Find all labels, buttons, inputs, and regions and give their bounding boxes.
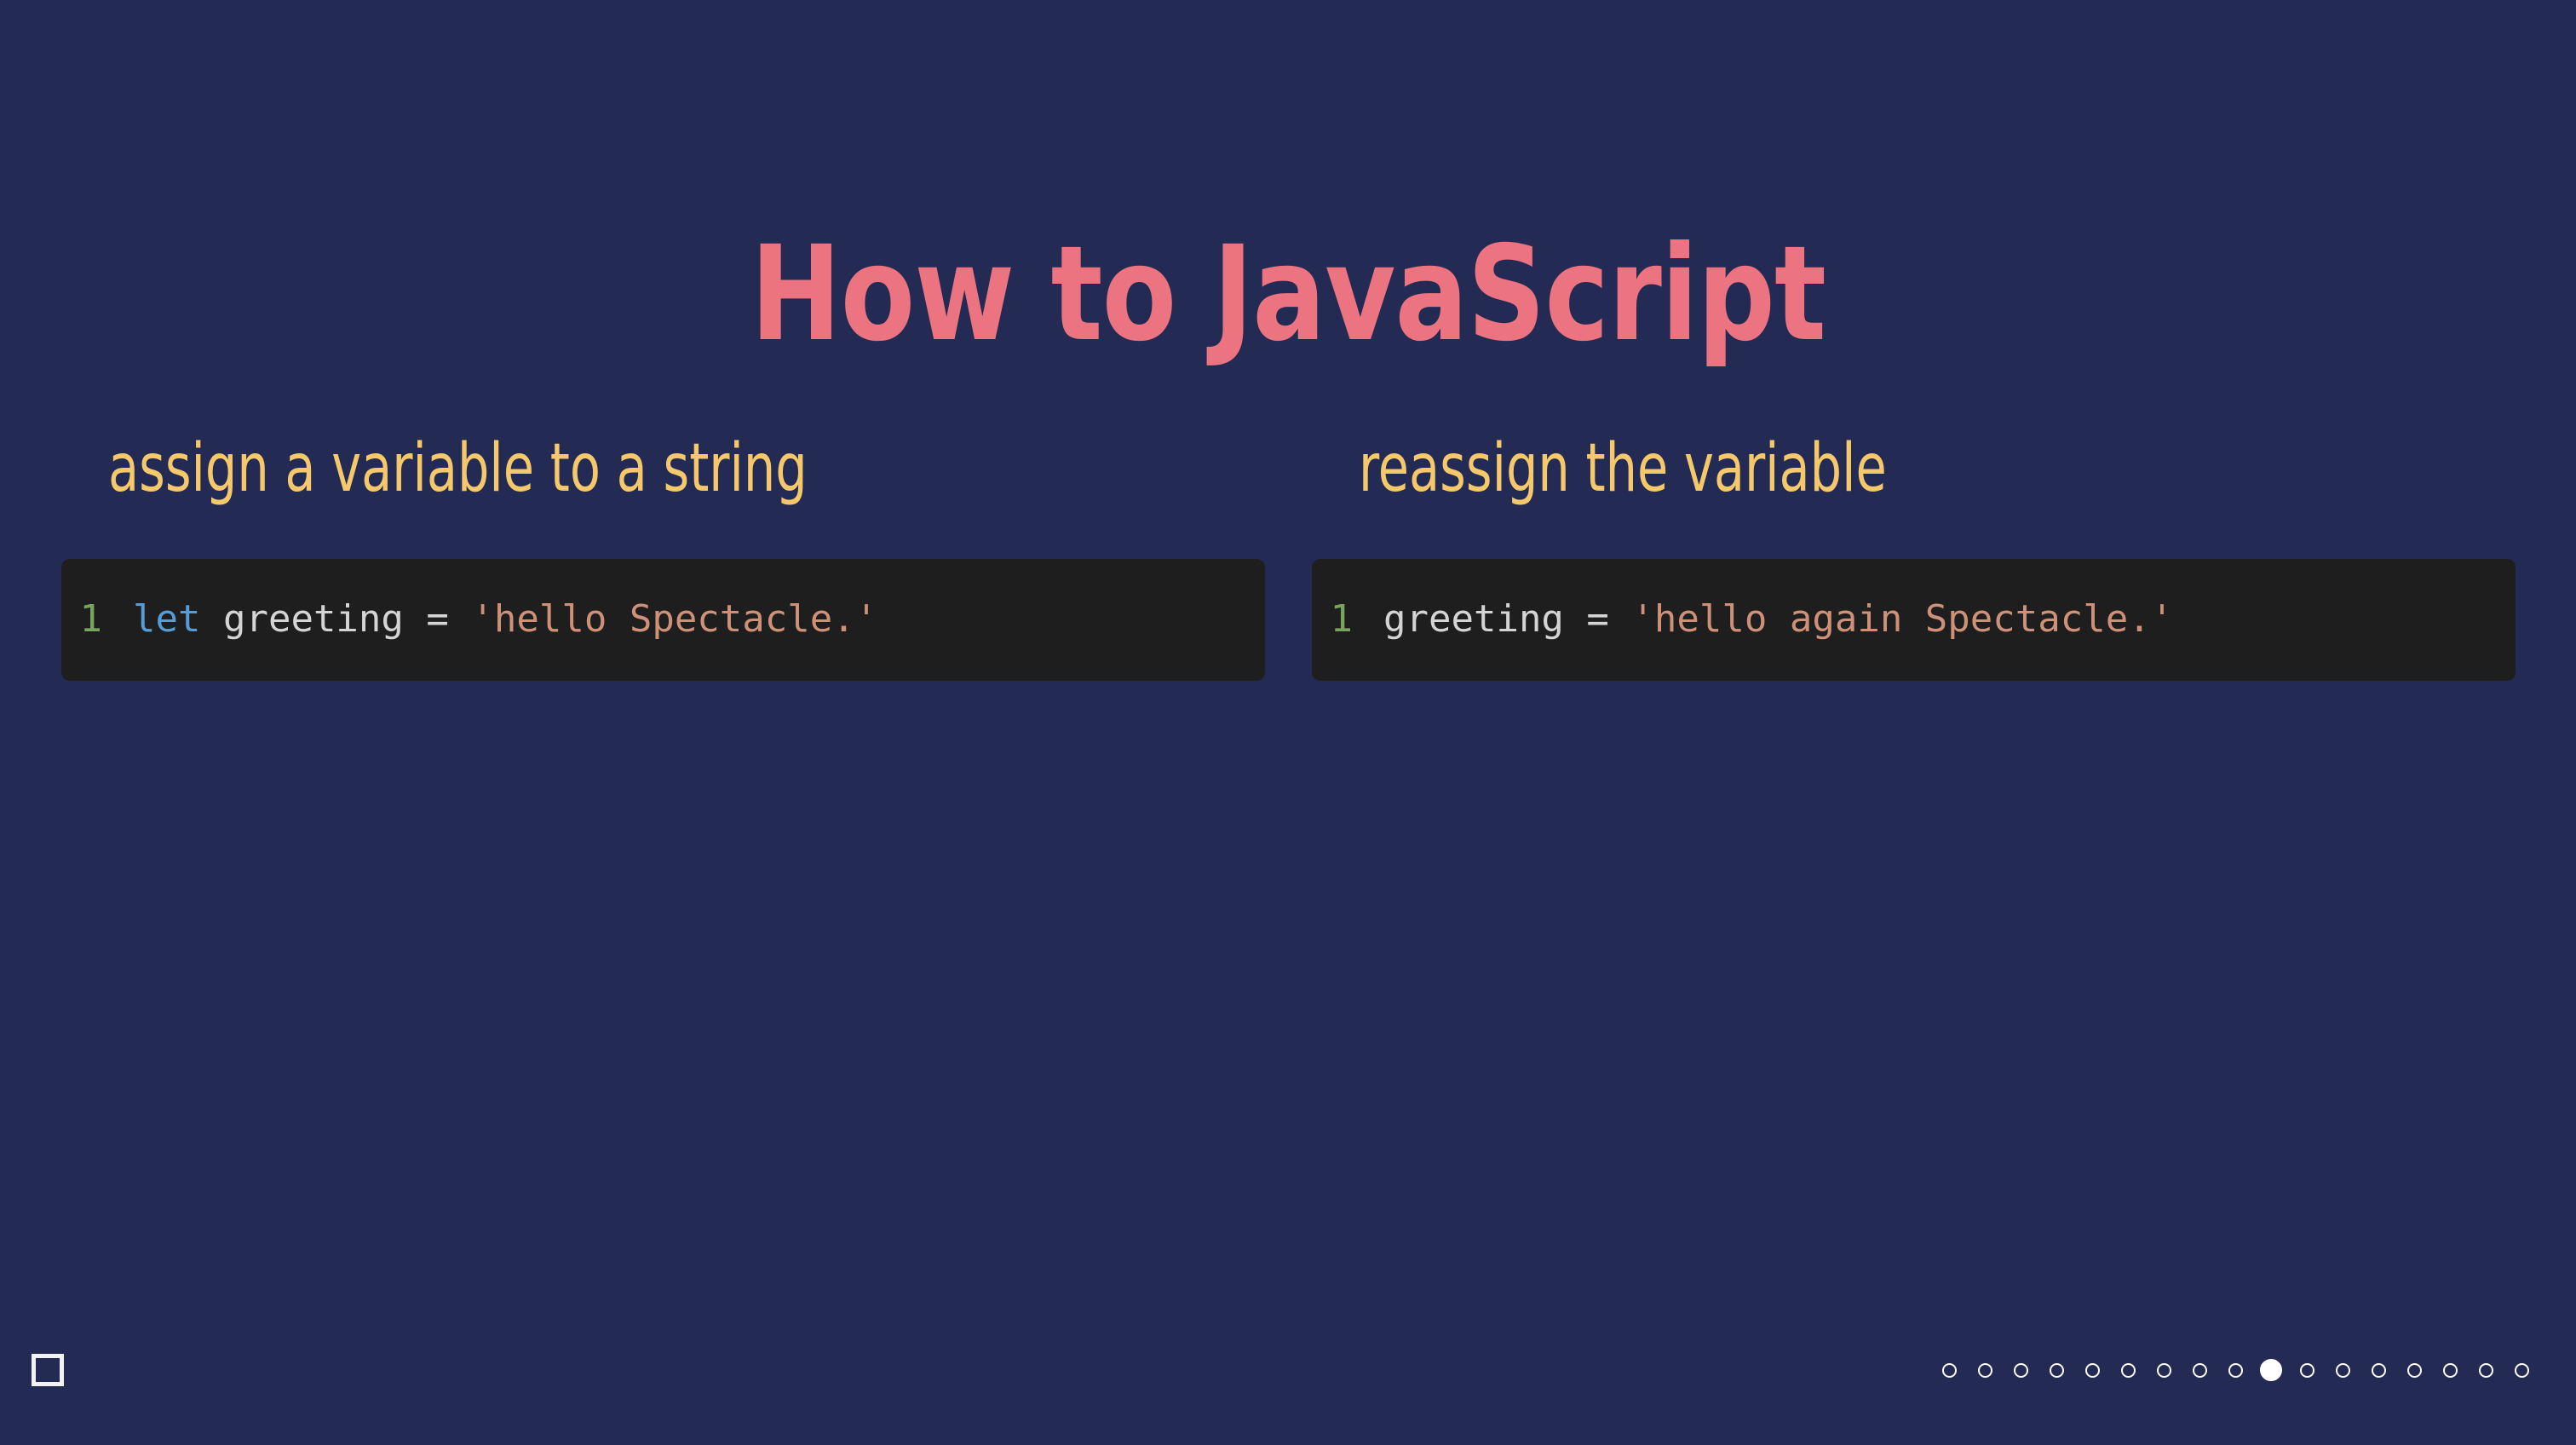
progress-dot-inactive: [1942, 1363, 1957, 1378]
progress-dot[interactable]: [2504, 1351, 2539, 1389]
progress-dot-inactive: [2479, 1363, 2493, 1378]
code-token-space: [1609, 601, 1632, 638]
progress-dot-inactive: [1978, 1363, 1992, 1378]
code-token-space: [449, 601, 472, 638]
code-token-string: 'hello Spectacle.': [471, 601, 877, 638]
presentation-slide: How to JavaScript assign a variable to a…: [0, 0, 2576, 1445]
code-line-number: 1: [61, 601, 133, 638]
fullscreen-corner-bottom-left: [32, 1369, 49, 1386]
progress-dot-inactive: [2050, 1363, 2064, 1378]
progress-dot[interactable]: [2396, 1351, 2432, 1389]
progress-dot[interactable]: [2146, 1351, 2182, 1389]
progress-dot-inactive: [2515, 1363, 2529, 1378]
code-token-identifier: greeting: [223, 601, 404, 638]
slide-progress-indicator[interactable]: [1931, 1351, 2539, 1389]
fullscreen-corner-top-right: [47, 1354, 64, 1371]
progress-dot[interactable]: [2182, 1351, 2217, 1389]
column-assign: assign a variable to a string 1 let gree…: [61, 435, 1265, 681]
code-token-string-end: Spectacle.': [1902, 601, 2173, 638]
page-title: How to JavaScript: [103, 229, 2473, 360]
column-reassign: reassign the variable 1 greeting = 'hell…: [1312, 435, 2516, 681]
progress-dot[interactable]: [1967, 1351, 2003, 1389]
code-token-space: [200, 601, 223, 638]
progress-dot[interactable]: [2360, 1351, 2396, 1389]
fullscreen-icon[interactable]: [32, 1354, 64, 1386]
progress-dot-inactive: [2443, 1363, 2458, 1378]
code-token-keyword: let: [133, 601, 200, 638]
content-columns: assign a variable to a string 1 let gree…: [61, 435, 2516, 681]
progress-dot[interactable]: [2038, 1351, 2074, 1389]
progress-dot[interactable]: [2003, 1351, 2038, 1389]
progress-dot[interactable]: [2289, 1351, 2325, 1389]
code-token-identifier: greeting: [1383, 601, 1564, 638]
fullscreen-corner-top-left: [32, 1354, 49, 1371]
progress-dot-inactive: [2228, 1363, 2243, 1378]
progress-dot[interactable]: [2253, 1351, 2289, 1389]
progress-dot-inactive: [2407, 1363, 2422, 1378]
progress-dot[interactable]: [1931, 1351, 1967, 1389]
column-heading: reassign the variable: [1359, 435, 2331, 504]
code-token-operator: =: [426, 601, 449, 638]
progress-dot-inactive: [2014, 1363, 2028, 1378]
code-line: 1 greeting = 'hello again Spectacle.': [1312, 601, 2173, 638]
progress-dot-inactive: [2336, 1363, 2350, 1378]
code-block-reassign[interactable]: 1 greeting = 'hello again Spectacle.': [1312, 559, 2516, 681]
code-token-space: [404, 601, 427, 638]
progress-dot-inactive: [2157, 1363, 2171, 1378]
progress-dot[interactable]: [2432, 1351, 2468, 1389]
column-heading: assign a variable to a string: [108, 435, 1080, 504]
progress-dot[interactable]: [2074, 1351, 2110, 1389]
code-token-string-start: 'hello: [1631, 601, 1789, 638]
code-token-string-emphasis: again: [1790, 601, 1902, 638]
progress-dot[interactable]: [2468, 1351, 2504, 1389]
code-line: 1 let greeting = 'hello Spectacle.': [61, 601, 877, 638]
progress-dot-inactive: [2193, 1363, 2207, 1378]
progress-dot-inactive: [2121, 1363, 2136, 1378]
code-token-operator: =: [1586, 601, 1609, 638]
progress-dot[interactable]: [2110, 1351, 2146, 1389]
fullscreen-corner-bottom-right: [47, 1369, 64, 1386]
progress-dot-inactive: [2300, 1363, 2314, 1378]
code-line-number: 1: [1312, 601, 1383, 638]
progress-dot-inactive: [2085, 1363, 2100, 1378]
progress-dot[interactable]: [2217, 1351, 2253, 1389]
progress-dot[interactable]: [2325, 1351, 2360, 1389]
code-block-assign[interactable]: 1 let greeting = 'hello Spectacle.': [61, 559, 1265, 681]
progress-dot-inactive: [2372, 1363, 2386, 1378]
code-token-space: [1564, 601, 1587, 638]
progress-dot-active: [2260, 1359, 2282, 1381]
